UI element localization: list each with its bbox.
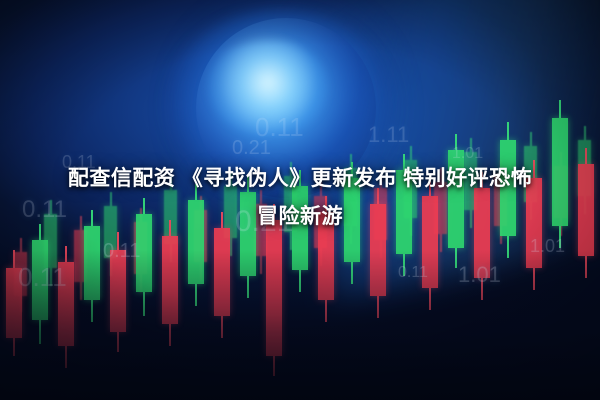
bottom-shadow-overlay: [0, 250, 600, 400]
caption-line-1: 配查信配资 《寻找伪人》更新发布 特别好评恐怖: [14, 160, 586, 198]
caption-line-2: 冒险新游: [14, 198, 586, 236]
banner-image: 0.111.110.210.111.010.110.210.111.010.11…: [0, 0, 600, 400]
caption-text: 配查信配资 《寻找伪人》更新发布 特别好评恐怖 冒险新游: [0, 160, 600, 236]
